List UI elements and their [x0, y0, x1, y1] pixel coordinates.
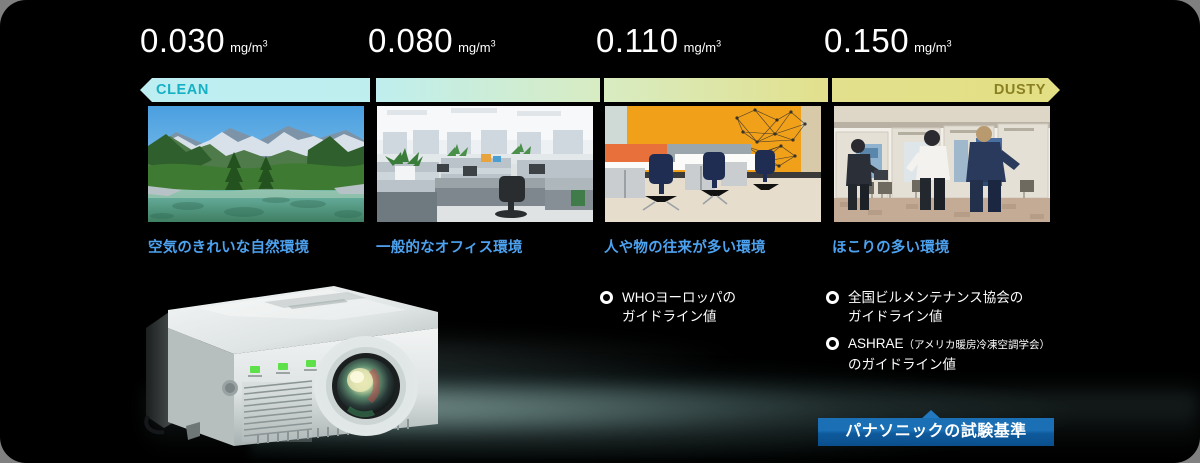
guideline-note-ashrae-small: （アメリカ暖房冷凍空調学会）: [904, 339, 1050, 351]
guideline-note-ashrae-line1: ASHRAE: [848, 336, 904, 351]
guideline-note-bma-line2: ガイドライン値: [848, 307, 1023, 326]
badge-label: パナソニックの試験基準: [818, 418, 1054, 446]
guideline-note-ashrae-line2: のガイドライン値: [848, 355, 1050, 374]
guideline-note-ashrae: ASHRAE（アメリカ暖房冷凍空調学会） のガイドライン値: [826, 334, 1050, 374]
panasonic-test-standard-badge: パナソニックの試験基準: [818, 412, 1054, 446]
guideline-note-bma-line1: 全国ビルメンテナンス協会の: [848, 290, 1023, 305]
guideline-note-who-text: WHOヨーロッパの ガイドライン値: [622, 288, 736, 326]
guideline-note-ashrae-text: ASHRAE（アメリカ暖房冷凍空調学会） のガイドライン値: [848, 334, 1050, 374]
guideline-note-who-line2: ガイドライン値: [622, 307, 736, 326]
guideline-note-bma: 全国ビルメンテナンス協会の ガイドライン値: [826, 288, 1023, 326]
bullet-ring-icon: [826, 291, 839, 304]
infographic-root: 0.030mg/m3 0.080mg/m3 0.110mg/m3 0.150mg…: [0, 0, 1200, 463]
guideline-note-who-line1: WHOヨーロッパの: [622, 290, 736, 305]
guideline-note-who: WHOヨーロッパの ガイドライン値: [600, 288, 736, 326]
projector-device: [138, 276, 458, 461]
bullet-ring-icon: [600, 291, 613, 304]
guideline-note-bma-text: 全国ビルメンテナンス協会の ガイドライン値: [848, 288, 1023, 326]
bullet-ring-icon: [826, 337, 839, 350]
